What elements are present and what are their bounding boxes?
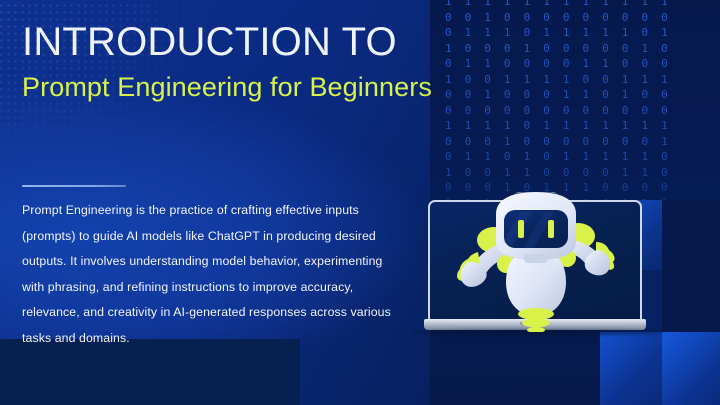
binary-row: 0 1 1 1 0 1 1 1 1 1 0 1 0 1 0 1 1 0 xyxy=(445,25,677,41)
binary-row: 0 1 1 0 0 0 0 1 1 0 0 0 0 0 0 1 1 0 xyxy=(445,56,677,72)
decor-block-upper-right xyxy=(662,200,720,270)
decor-block-mid-right xyxy=(662,270,720,332)
robot-thruster xyxy=(518,308,554,332)
robot-head xyxy=(496,192,576,260)
decor-block-lower-left xyxy=(600,332,662,405)
binary-row: 1 0 0 1 1 0 0 0 0 1 1 0 1 0 1 0 1 0 xyxy=(445,165,677,181)
robot-eye-left xyxy=(518,220,524,238)
binary-row: 0 0 1 0 0 0 1 1 0 1 0 0 0 1 0 1 1 1 xyxy=(445,87,677,103)
page-subtitle: Prompt Engineering for Beginners xyxy=(22,70,452,104)
robot-eye-right xyxy=(548,220,554,238)
binary-row: 1 1 1 1 0 1 1 1 1 1 1 1 0 1 0 1 0 1 xyxy=(445,118,677,134)
page-title: INTRODUCTION TO xyxy=(22,20,452,64)
binary-row: 1 1 1 1 1 1 1 1 1 1 1 1 1 1 1 1 0 1 xyxy=(445,0,677,10)
ai-robot-illustration xyxy=(448,192,624,332)
presentation-slide: 1 1 1 1 1 1 1 1 1 1 1 1 1 1 1 1 0 10 0 1… xyxy=(0,0,720,405)
binary-row: 1 0 0 0 1 0 0 0 0 0 1 0 1 0 0 1 0 1 xyxy=(445,41,677,57)
binary-row: 1 0 0 1 1 1 1 0 0 1 1 1 1 1 1 1 0 1 xyxy=(445,72,677,88)
binary-row: 0 0 0 0 0 0 0 0 0 0 0 0 0 0 0 1 0 0 xyxy=(445,103,677,119)
binary-row: 0 1 1 0 1 0 1 1 1 1 1 0 0 1 0 1 0 0 xyxy=(445,149,677,165)
binary-row: 0 0 0 1 0 0 0 0 0 0 0 1 1 0 1 0 1 1 xyxy=(445,134,677,150)
robot-neck xyxy=(524,254,548,263)
body-paragraph: Prompt Engineering is the practice of cr… xyxy=(22,198,400,351)
decor-block-lower-right xyxy=(662,332,720,405)
title-block: INTRODUCTION TO Prompt Engineering for B… xyxy=(22,20,452,104)
binary-row: 0 0 1 0 0 0 0 0 0 0 0 0 0 1 0 1 0 0 xyxy=(445,10,677,26)
title-divider xyxy=(22,185,126,187)
